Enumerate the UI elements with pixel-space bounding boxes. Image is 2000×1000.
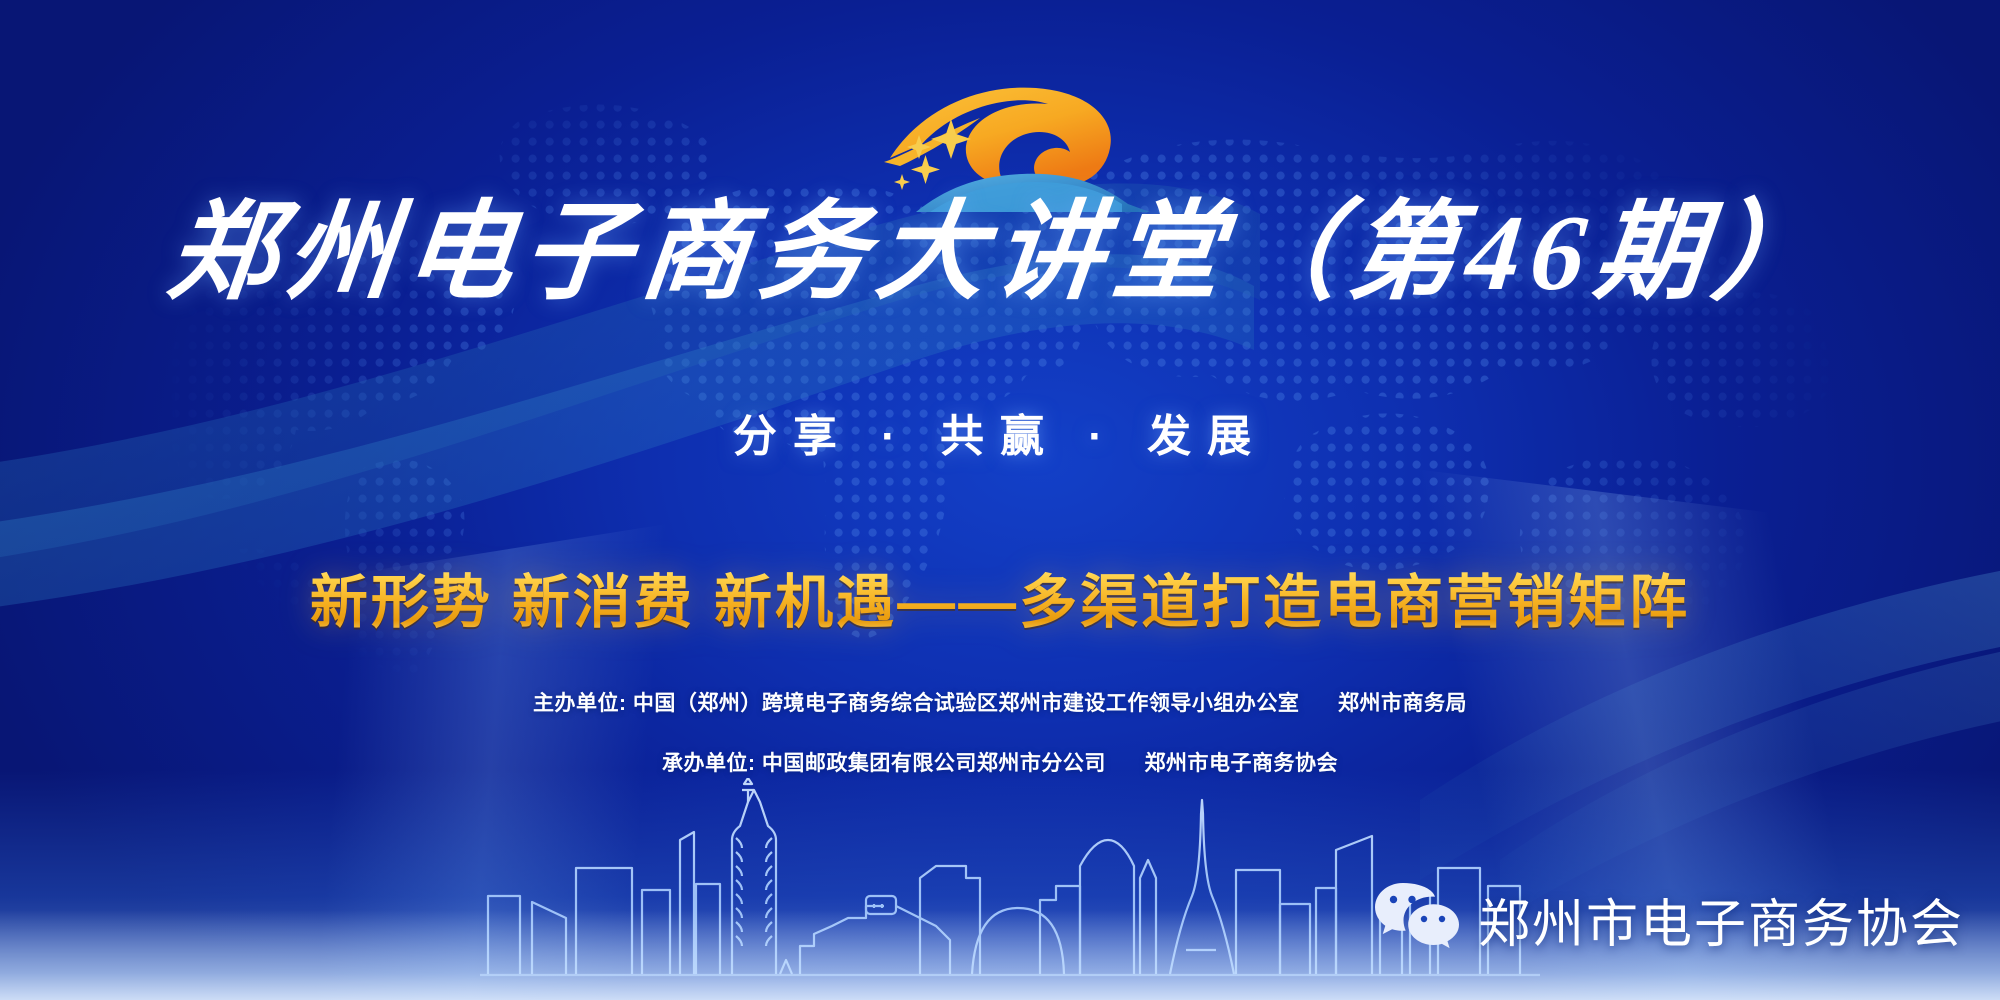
wechat-account-badge[interactable]: 郑州市电子商务协会	[1374, 880, 1964, 958]
organizer-line-host: 主办单位: 中国（郑州）跨境电子商务综合试验区郑州市建设工作领导小组办公室 郑州…	[0, 687, 2000, 717]
poster-canvas: 郑州电子商务大讲堂（第46期） 分享 · 共赢 · 发展 新形势 新消费 新机遇…	[0, 0, 2000, 1000]
wechat-icon	[1374, 881, 1460, 958]
event-headline: 新形势 新消费 新机遇——多渠道打造电商营销矩阵	[0, 555, 2000, 639]
event-subtitle: 分享 · 共赢 · 发展	[0, 400, 2000, 464]
organizer-value-host: 中国（郑州）跨境电子商务综合试验区郑州市建设工作领导小组办公室	[633, 692, 1300, 715]
event-title-block: 郑州电子商务大讲堂（第46期）	[0, 196, 2000, 313]
organizer-label-host: 主办单位:	[533, 692, 627, 715]
wechat-account-name: 郑州市电子商务协会	[1478, 882, 1964, 957]
cross-border-ecommerce-swoosh-logo	[860, 62, 1150, 212]
page-title: 郑州电子商务大讲堂（第46期）	[163, 196, 1837, 313]
organizer-value-host-2: 郑州市商务局	[1338, 692, 1467, 715]
